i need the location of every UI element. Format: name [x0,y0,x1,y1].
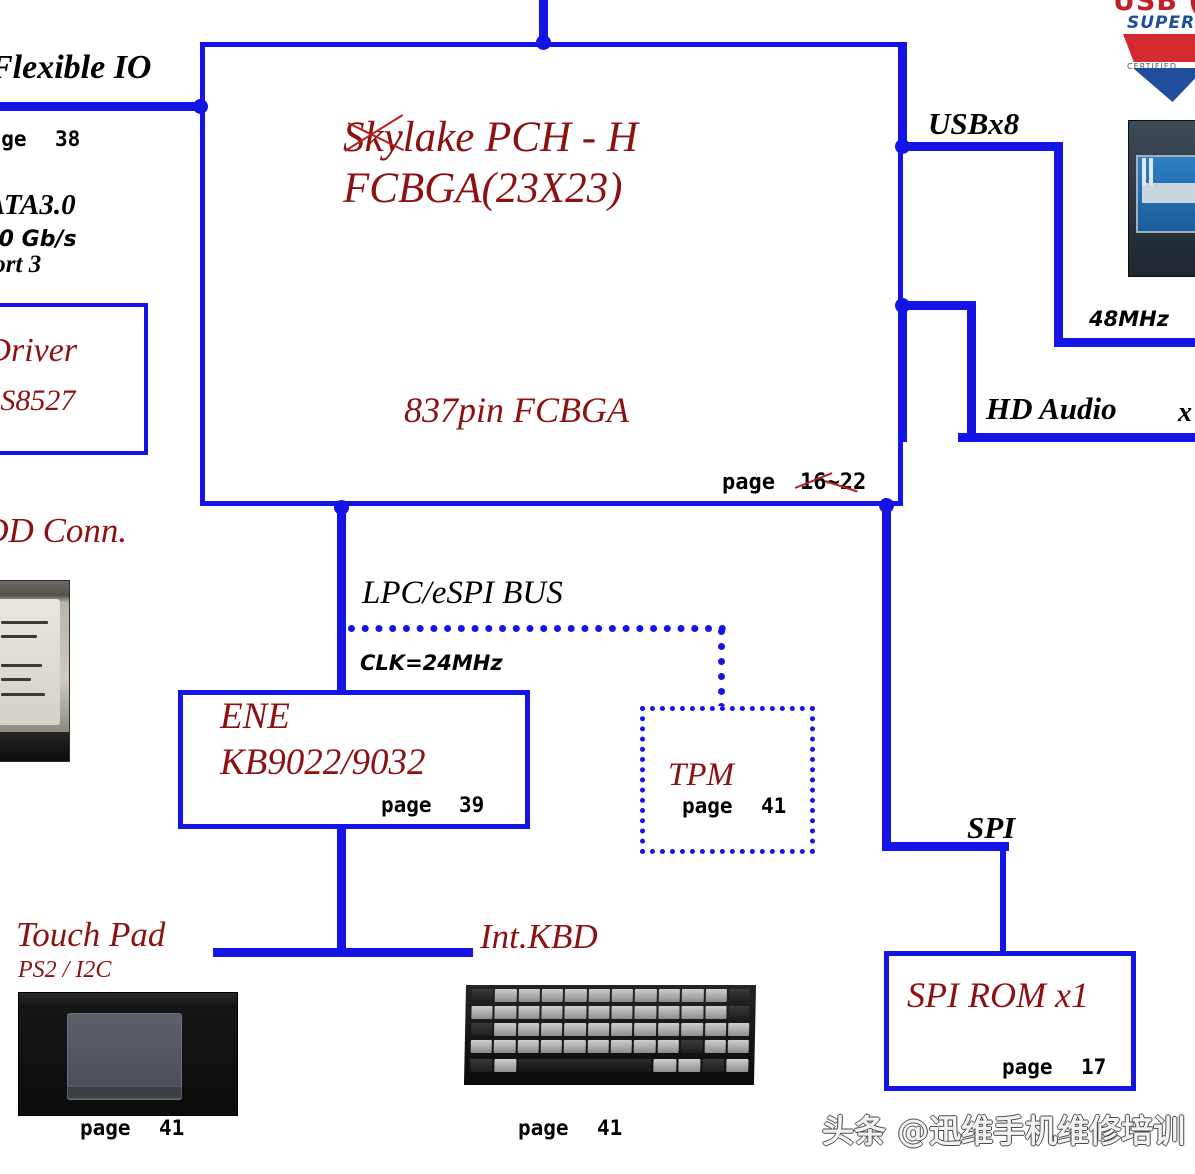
hd-audio-suffix-label: x [1178,398,1192,427]
edriver-box[interactable] [0,303,148,455]
wire-hdaudio-vertical [898,301,907,442]
keyboard-page-value: 41 [597,1117,622,1139]
intkbd-title: Int.KBD [480,919,598,956]
touchpad-photo [18,992,238,1116]
flexible-io-label: Flexible IO [0,50,151,86]
wire-lpc-vertical [337,503,346,699]
wire-hdaudio-drop [967,301,976,436]
junction-usb [895,139,910,154]
pch-name-line1: Skylake PCH - H [343,115,638,160]
wire-spi-to-rom [1000,842,1006,954]
junction-flexible-io [193,99,208,114]
tpm-page-value: 41 [761,795,786,817]
ene-page-label: page [381,794,432,816]
wire-ec-to-input [337,827,346,957]
wire-flexible-io [0,102,205,111]
lpc-clock-label: CLK=24MHz [360,652,503,674]
watermark-text: 头条 @迅维手机维修培训 [822,1106,1185,1152]
skylake-pch-box[interactable] [200,42,903,506]
keyboard-page-label: page [518,1117,569,1139]
pch-package-label: 837pin FCBGA [404,392,629,430]
tpm-title: TPM [668,758,734,793]
usb-logo-blue-arrow [1133,68,1195,102]
touchpad-subtitle: PS2 / I2C [18,958,111,983]
ene-page-value: 39 [459,794,484,816]
pch-name-line2: FCBGA(23X23) [343,166,622,211]
diagram-canvas: Skylake PCH - H FCBGA(23X23) 837pin FCBG… [0,0,1195,1174]
junction-top [536,35,551,50]
touchpad-page-value: 41 [159,1117,184,1139]
usb-port-photo [1128,120,1195,277]
ene-title-line1: ENE [220,698,290,737]
sata-speed-label: 6.0 Gb/s [0,228,77,251]
keyboard-photo [464,985,756,1085]
flexible-io-page-label: page [0,128,27,150]
hd-audio-label: HD Audio [986,393,1117,426]
wire-hdaudio-out [958,433,1195,442]
lpc-bus-label: LPC/eSPI BUS [362,576,563,611]
wire-lpc-tpm-vertical [718,628,732,710]
junction-hdaudio [895,298,910,313]
usb-logo-red-band [1123,34,1195,62]
wire-intkbd [337,948,473,957]
wire-usb-to-port [1054,338,1195,347]
spi-bus-label: SPI [967,812,1015,845]
hdd-conn-label: HDD Conn. [0,513,127,550]
junction-lpc [334,500,349,515]
sata-title-label: SATA3.0 [0,190,76,220]
wire-usb-vertical-right [1054,142,1063,346]
edriver-part: PS8527 [0,385,75,417]
usb-logo-word2: SUPERSPEED [1127,13,1195,33]
touchpad-page-label: page [80,1117,131,1139]
spi-rom-page-label: page [1002,1056,1053,1078]
touchpad-title: Touch Pad [16,917,165,954]
wire-touchpad [213,948,343,957]
edriver-title: e-Driver [0,333,77,369]
wire-lpc-tpm-horizontal [348,625,726,639]
spi-rom-title: SPI ROM x1 [907,977,1089,1015]
wire-usb-vertical-left [898,42,907,152]
sata-port-label: Port 3 [0,252,41,278]
ene-title-line2: KB9022/9032 [220,744,426,783]
clock-48mhz-label: 48MHz [1089,308,1169,330]
tpm-page-label: page [682,795,733,817]
wire-usb-horizontal [898,142,1063,151]
spi-rom-page-value: 17 [1081,1056,1106,1078]
wire-spi-vertical [882,502,891,846]
usb-count-label: USBx8 [928,108,1019,141]
pch-page-label: page [722,471,775,494]
usb-superspeed-logo: USB ( SUPERSPEED CERTIFIED U [1113,0,1195,106]
flexible-io-page-value: 38 [55,128,80,150]
hdd-photo [0,580,70,762]
